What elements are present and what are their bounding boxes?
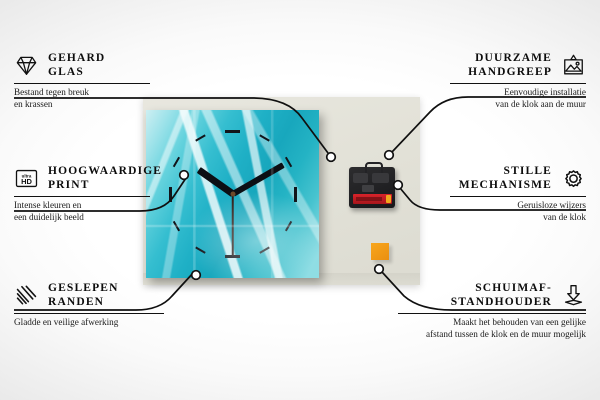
clock-tick (225, 130, 240, 133)
feature-stille-mechanisme: STILLE MECHANISME Geruisloze wijzers van… (450, 165, 586, 223)
down-arrow-spacer-icon (561, 283, 586, 308)
clock-tick (259, 246, 270, 253)
feature-hoogwaardige-print: ultra HD HOOGWAARDIGE PRINT Intense kleu… (14, 165, 150, 223)
feature-geslepen-randen: GESLEPEN RANDEN Gladde en veilige afwerk… (14, 282, 164, 329)
feature-rule (14, 83, 150, 84)
clock-tick (259, 134, 270, 141)
clock-center-cap (230, 192, 235, 197)
feature-header: SCHUIMAF- STANDHOUDER (398, 282, 586, 309)
clock-second-hand (232, 194, 234, 256)
clock-tick (285, 156, 292, 167)
feature-title: STILLE MECHANISME (459, 165, 552, 192)
feature-title: DUURZAME HANDGREEP (468, 52, 552, 79)
feature-schuimafstandhouder: SCHUIMAF- STANDHOUDER Maakt het behouden… (398, 282, 586, 340)
feature-duurzame-handgreep: DUURZAME HANDGREEP Eenvoudige installati… (450, 52, 586, 110)
clock-tick (173, 156, 180, 167)
feature-title: SCHUIMAF- STANDHOUDER (451, 282, 552, 309)
glass-wall-clock (146, 110, 319, 278)
feature-rule (398, 313, 586, 314)
aa-battery (353, 194, 392, 204)
feature-description: Geruisloze wijzers van de klok (450, 200, 586, 222)
foam-spacer (371, 243, 389, 260)
feature-description: Bestand tegen breuk en krassen (14, 87, 150, 109)
feature-rule (450, 83, 586, 84)
feature-description: Maakt het behouden van een gelijke afsta… (398, 317, 586, 339)
feature-header: DUURZAME HANDGREEP (450, 52, 586, 79)
feature-header: GEHARD GLAS (14, 52, 150, 79)
clock-tick (195, 134, 206, 141)
svg-text:HD: HD (21, 177, 32, 186)
feature-rule (14, 313, 164, 314)
clock-tick (225, 255, 240, 258)
feature-title: GESLEPEN RANDEN (48, 282, 119, 309)
picture-frame-icon (561, 53, 586, 78)
diamond-icon (14, 53, 39, 78)
beveled-edges-icon (14, 283, 39, 308)
movement-detail (372, 173, 389, 183)
ultra-hd-icon: ultra HD (14, 166, 39, 191)
infographic-canvas: GEHARD GLAS Bestand tegen breuk en krass… (0, 0, 600, 400)
clock-tick (173, 221, 180, 232)
clock-tick (294, 187, 297, 202)
gear-icon (561, 166, 586, 191)
movement-detail (362, 185, 374, 192)
clock-minute-hand (231, 162, 284, 196)
battery-positive-tip (386, 195, 391, 203)
feature-title: HOOGWAARDIGE PRINT (48, 165, 162, 192)
feature-header: STILLE MECHANISME (450, 165, 586, 192)
feature-header: ultra HD HOOGWAARDIGE PRINT (14, 165, 150, 192)
feature-gehard-glas: GEHARD GLAS Bestand tegen breuk en krass… (14, 52, 150, 110)
feature-rule (450, 196, 586, 197)
movement-detail (353, 173, 368, 183)
feature-title: GEHARD GLAS (48, 52, 105, 79)
battery-label-band (356, 197, 382, 201)
feature-description: Eenvoudige installatie van de klok aan d… (450, 87, 586, 109)
clock-hour-hand (196, 167, 234, 196)
feature-rule (14, 196, 150, 197)
clock-tick (169, 187, 172, 202)
feature-header: GESLEPEN RANDEN (14, 282, 164, 309)
clock-tick (195, 246, 206, 253)
movement-hanger-icon (365, 162, 383, 173)
feature-description: Intense kleuren en een duidelijk beeld (14, 200, 150, 222)
clock-movement (349, 167, 395, 208)
clock-tick (285, 221, 292, 232)
feature-description: Gladde en veilige afwerking (14, 317, 164, 328)
